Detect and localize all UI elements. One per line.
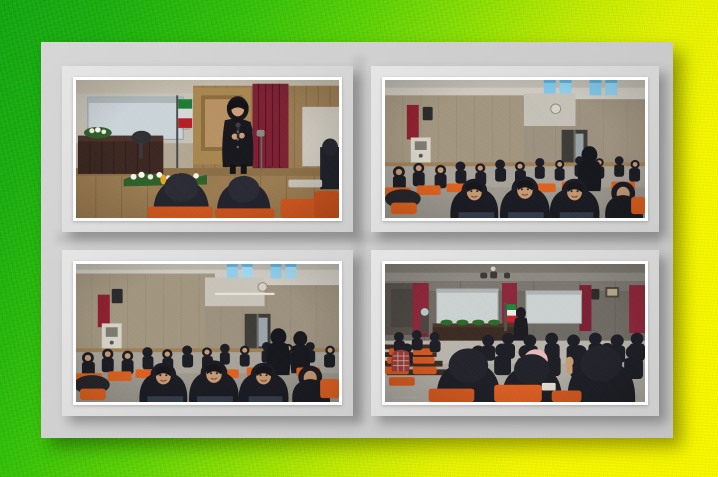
outer-mount-board: ................. [41, 42, 673, 438]
collage-stage: ................. [0, 0, 718, 477]
photo-grid: ................. [41, 42, 673, 438]
photo-panel-top-right[interactable] [371, 66, 659, 232]
photo-panel-top-left[interactable] [62, 66, 353, 232]
photo-image-4: ................. [385, 264, 645, 402]
photo-mat-3 [73, 261, 342, 405]
photo-mat-2 [382, 77, 648, 221]
photo-image-3 [76, 264, 339, 402]
photo-mat-4: ................. [382, 261, 648, 405]
photo-image-1 [76, 80, 339, 218]
photo-mat-1 [73, 77, 342, 221]
svg-text:.................: ................. [393, 394, 421, 400]
photo-panel-bottom-right[interactable]: ................. [371, 250, 659, 416]
photo-image-2 [385, 80, 645, 218]
photo-panel-bottom-left[interactable] [62, 250, 353, 416]
